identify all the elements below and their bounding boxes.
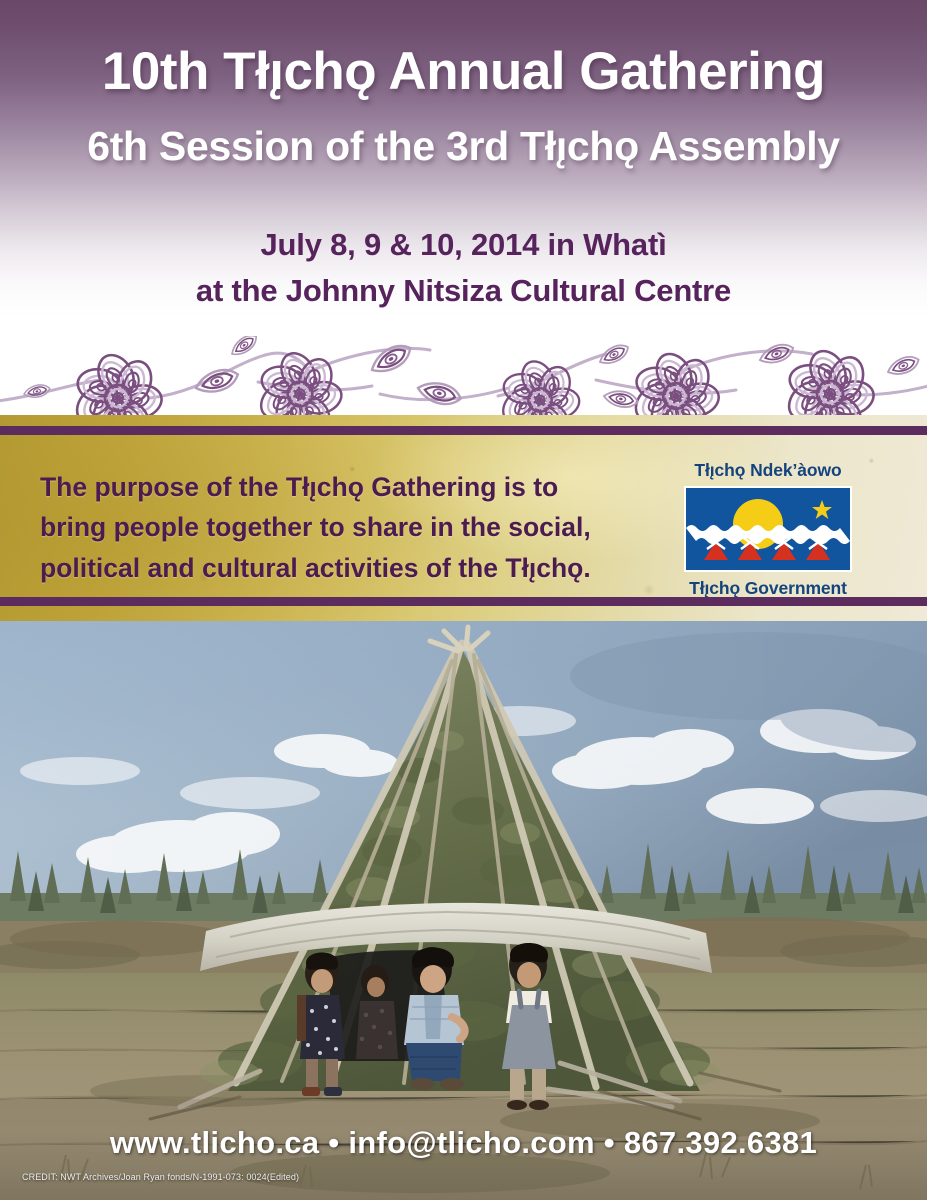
purpose-line-1: The purpose of the Tłı̨chǫ Gathering is … [40, 467, 660, 507]
purpose-line-2: bring people together to share in the so… [40, 507, 660, 547]
teepee-photo-illustration [0, 621, 927, 1200]
purpose-panel: The purpose of the Tłı̨chǫ Gathering is … [0, 415, 927, 623]
tlicho-flag-icon [684, 486, 852, 572]
beadwork-floral-icon [0, 336, 927, 418]
header-banner: 10th Tłı̨chǫ Annual Gathering 6th Sessio… [0, 0, 927, 340]
archival-photograph [0, 621, 927, 1200]
poster-root: 10th Tłı̨chǫ Annual Gathering 6th Sessio… [0, 0, 927, 1200]
page-title: 10th Tłı̨chǫ Annual Gathering [0, 44, 927, 100]
contact-bar[interactable]: www.tlicho.ca • info@tlicho.com • 867.39… [0, 1125, 927, 1161]
event-venue: at the Johnny Nitsiza Cultural Centre [0, 273, 927, 309]
logo-label-tlicho-government: Tłı̨chǫ Government [673, 578, 863, 599]
purpose-line-3: political and cultural activities of the… [40, 548, 660, 588]
logo-label-tlicho-ndekaowo: Tłı̨chǫ Ndek’àowo [673, 460, 863, 481]
tlicho-government-logo: Tłı̨chǫ Ndek’àowo [673, 460, 863, 599]
event-date: July 8, 9 & 10, 2014 in Whatì [0, 227, 927, 263]
panel-stripe-top [0, 426, 927, 435]
beadwork-border [0, 336, 927, 418]
page-subtitle: 6th Session of the 3rd Tłı̨chǫ Assembly [0, 123, 927, 170]
photo-credit: CREDIT: NWT Archives/Joan Ryan fonds/N-1… [22, 1172, 299, 1182]
purpose-statement: The purpose of the Tłı̨chǫ Gathering is … [40, 467, 660, 588]
